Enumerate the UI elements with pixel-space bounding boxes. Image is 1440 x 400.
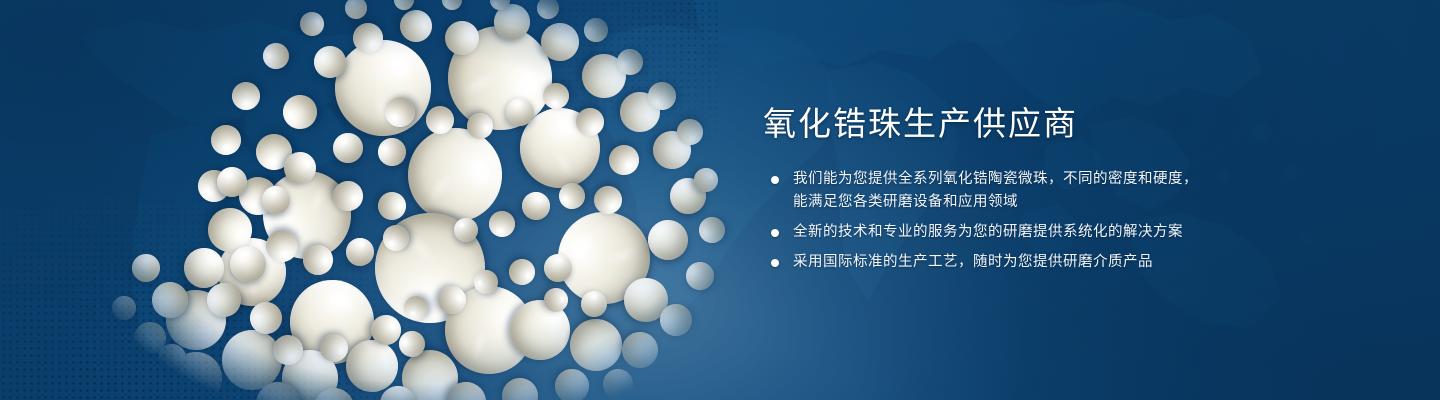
bead [615,325,666,376]
hero-banner: 氧化锆珠生产供应商 我们能为您提供全系列氧化锆陶瓷微珠，不同的密度和硬度， 能满… [0,0,1440,400]
bead [600,366,636,400]
bead [565,314,627,376]
bead [319,24,447,152]
bead [698,216,726,244]
feature-list: 我们能为您提供全系列氧化锆陶瓷微珠，不同的密度和硬度， 能满足您各类研磨设备和应… [763,168,1323,274]
zirconia-beads-image [0,0,760,400]
bead [127,249,164,286]
bead [281,93,318,130]
bead [593,185,623,215]
bead [206,120,245,159]
bead [370,314,401,345]
bead [344,0,367,20]
bead [484,206,521,243]
bullet-dot-icon [771,229,779,237]
list-item-line1: 全新的技术和专业的服务为您的研磨提供系统化的解决方案 [793,224,1183,240]
bead [516,186,555,225]
bead [258,38,294,74]
bead [333,133,363,163]
bullet-dot-icon [771,259,779,267]
bead [440,0,464,12]
bead [606,142,642,178]
bead [535,0,560,21]
bead [559,183,586,210]
list-item-line1: 采用国际标准的生产工艺，随时为您提供研磨介质产品 [793,254,1153,270]
bead [504,254,540,290]
list-item-line2: 能满足您各类研磨设备和应用领域 [793,191,1323,214]
bead [110,294,137,321]
list-item: 全新的技术和专业的服务为您的研磨提供系统化的解决方案 [763,221,1323,244]
bullet-dot-icon [771,176,779,184]
bead [102,348,134,380]
bead [372,132,411,171]
bead [647,219,690,262]
banner-headline: 氧化锆珠生产供应商 [763,104,1323,144]
list-item: 采用国际标准的生产工艺，随时为您提供研磨介质产品 [763,251,1323,274]
list-item-line1: 我们能为您提供全系列氧化锆陶瓷微珠，不同的密度和硬度， [793,171,1198,187]
bead [395,5,436,46]
banner-content: 氧化锆珠生产供应商 我们能为您提供全系列氧化锆陶瓷微珠，不同的密度和硬度， 能满… [763,104,1323,281]
bead [299,11,325,37]
bead [681,257,720,296]
bead [579,13,612,46]
list-item: 我们能为您提供全系列氧化锆陶瓷微珠，不同的密度和硬度， 能满足您各类研磨设备和应… [763,168,1323,214]
bead [495,371,545,400]
bead [227,77,265,115]
